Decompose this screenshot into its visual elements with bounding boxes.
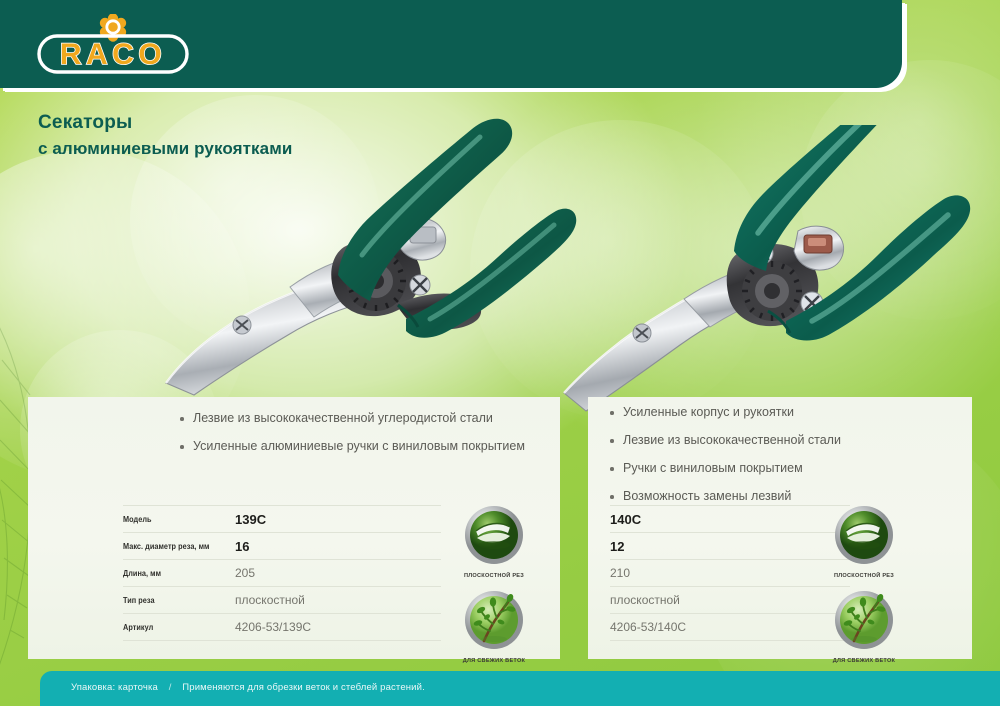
title-main: Секаторы <box>38 112 292 134</box>
badge-caption: ДЛЯ СВЕЖИХ ВЕТОК <box>816 658 912 664</box>
page-header: RACO <box>0 0 902 88</box>
title-subtitle: с алюминиевыми рукоятками <box>38 139 292 159</box>
spec-value: 140C <box>610 506 850 533</box>
spec-value: 16 <box>235 533 441 560</box>
spec-value: 139C <box>235 506 441 533</box>
badge-fresh-branches: ДЛЯ СВЕЖИХ ВЕТОК <box>446 590 542 664</box>
list-item: Ручки с виниловым покрытием <box>610 461 930 476</box>
footer-note: Упаковка: карточка / Применяются для обр… <box>71 682 425 693</box>
spec-label: Модель <box>123 506 222 533</box>
table-row: 4206-53/140C <box>610 614 850 641</box>
badge-column-139c: ПЛОСКОСТНОЙ РЕЗ <box>446 505 542 675</box>
spec-label: Тип реза <box>123 587 222 614</box>
spec-value: плоскостной <box>235 587 441 614</box>
table-row: Макс. диаметр реза, мм 16 <box>123 533 441 560</box>
badge-caption: ДЛЯ СВЕЖИХ ВЕТОК <box>446 658 542 664</box>
footer-usage: Применяются для обрезки веток и стеблей … <box>182 682 425 693</box>
table-row: Модель 139C <box>123 506 441 533</box>
spec-table-140c: 140C 12 210 плоскостной 4206-53/140C <box>610 505 850 641</box>
spec-value: 210 <box>610 560 850 587</box>
badge-column-140c: ПЛОСКОСТНОЙ РЕЗ <box>816 505 912 675</box>
feature-list-140c: Усиленные корпус и рукоятки Лезвие из вы… <box>610 405 930 504</box>
secateurs-140c-photo <box>556 125 986 415</box>
badge-flat-cut: ПЛОСКОСТНОЙ РЕЗ <box>446 505 542 579</box>
product-sheet-page: RACO Секаторы с алюминиевыми рукоятками <box>0 0 1000 706</box>
spec-label: Артикул <box>123 614 222 641</box>
spec-value: 12 <box>610 533 850 560</box>
badge-fresh-branches: ДЛЯ СВЕЖИХ ВЕТОК <box>816 590 912 664</box>
product-panel-139c: Лезвие из высококачественной углеродисто… <box>28 397 560 659</box>
spec-value: плоскостной <box>610 587 850 614</box>
badge-caption: ПЛОСКОСТНОЙ РЕЗ <box>446 573 542 579</box>
flat-cut-badge-icon <box>464 505 524 565</box>
list-item: Лезвие из высококачественной стали <box>610 433 930 448</box>
table-row: Артикул 4206-53/139C <box>123 614 441 641</box>
footer-packaging: Упаковка: карточка <box>71 682 158 693</box>
footer-separator: / <box>161 682 180 693</box>
product-panel-140c: Усиленные корпус и рукоятки Лезвие из вы… <box>588 397 972 659</box>
flat-cut-badge-icon <box>834 505 894 565</box>
list-item: Усиленные корпус и рукоятки <box>610 405 930 420</box>
page-footer: Упаковка: карточка / Применяются для обр… <box>40 671 1000 706</box>
table-row: Тип реза плоскостной <box>123 587 441 614</box>
raco-flower-logo: RACO <box>33 14 193 76</box>
table-row: 12 <box>610 533 850 560</box>
table-row: 140C <box>610 506 850 533</box>
table-row: 210 <box>610 560 850 587</box>
spec-value: 4206-53/140C <box>610 614 850 641</box>
table-row: Длина, мм 205 <box>123 560 441 587</box>
spec-label: Длина, мм <box>123 560 222 587</box>
spec-value: 205 <box>235 560 441 587</box>
feature-list-139c: Лезвие из высококачественной углеродисто… <box>180 411 540 454</box>
fresh-branches-badge-icon <box>464 590 524 650</box>
badge-flat-cut: ПЛОСКОСТНОЙ РЕЗ <box>816 505 912 579</box>
fresh-branches-badge-icon <box>834 590 894 650</box>
badge-caption: ПЛОСКОСТНОЙ РЕЗ <box>816 573 912 579</box>
list-item: Возможность замены лезвий <box>610 489 930 504</box>
spec-value: 4206-53/139C <box>235 614 441 641</box>
page-title: Секаторы с алюминиевыми рукоятками <box>38 112 292 159</box>
spec-table-139c: Модель 139C Макс. диаметр реза, мм 16 Дл… <box>123 505 441 641</box>
list-item: Усиленные алюминиевые ручки с виниловым … <box>180 439 540 454</box>
svg-text:RACO: RACO <box>60 38 166 71</box>
table-row: плоскостной <box>610 587 850 614</box>
spec-label: Макс. диаметр реза, мм <box>123 533 222 560</box>
list-item: Лезвие из высококачественной углеродисто… <box>180 411 540 426</box>
